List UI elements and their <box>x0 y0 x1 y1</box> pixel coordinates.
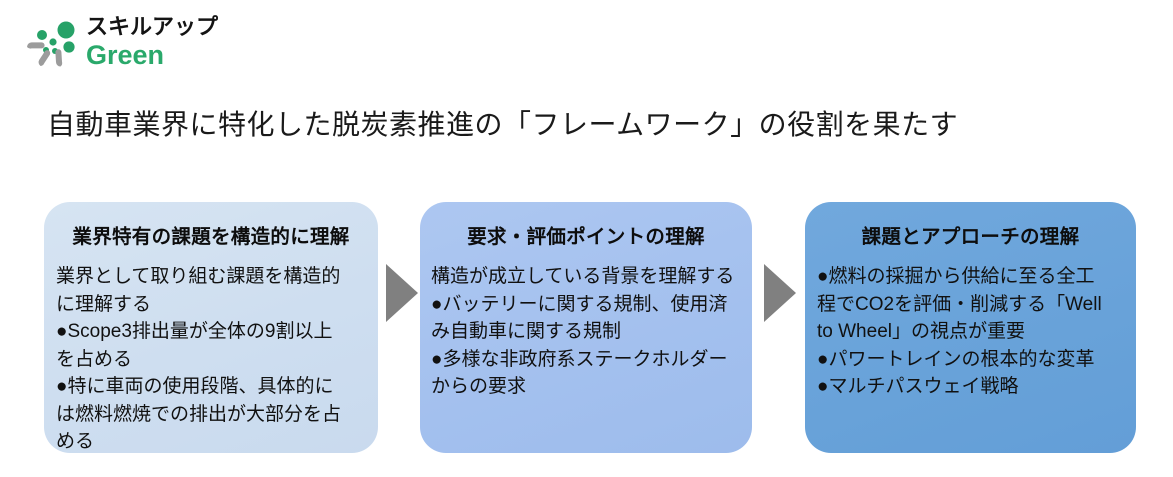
flow-card-2-heading: 要求・評価ポイントの理解 <box>420 202 752 249</box>
flow-card-1-body: 業界として取り組む課題を構造的 に理解する ●Scope3排出量が全体の9割以上… <box>44 249 378 453</box>
triangle-right-arrow-icon <box>762 262 798 324</box>
flow-card-3: 課題とアプローチの理解 ●燃料の採掘から供給に至る全工 程でCO2を評価・削減す… <box>805 202 1136 453</box>
brand-name-en: Green <box>86 40 231 70</box>
brand-wordmark: スキルアップ Green <box>86 14 231 70</box>
page-title: 自動車業界に特化した脱炭素推進の「フレームワーク」の役割を果たす <box>47 103 958 143</box>
flow-card-2: 要求・評価ポイントの理解 構造が成立している背景を理解する ●バッテリーに関する… <box>420 202 752 453</box>
triangle-right-arrow-icon <box>384 262 420 324</box>
brand-name-jp: スキルアップ <box>86 14 231 40</box>
dot-burst-logo-icon <box>22 20 84 70</box>
slide-canvas: スキルアップ Green 自動車業界に特化した脱炭素推進の「フレームワーク」の役… <box>0 0 1173 477</box>
flow-card-1: 業界特有の課題を構造的に理解 業界として取り組む課題を構造的 に理解する ●Sc… <box>44 202 378 453</box>
flow-card-2-body: 構造が成立している背景を理解する ●バッテリーに関する規制、使用済 み自動車に関… <box>420 249 752 401</box>
flow-card-3-heading: 課題とアプローチの理解 <box>805 202 1136 249</box>
flow-card-3-body: ●燃料の採掘から供給に至る全工 程でCO2を評価・削減する「Well to Wh… <box>805 249 1136 401</box>
brand-logo: スキルアップ Green <box>14 12 229 74</box>
flow-card-1-heading: 業界特有の課題を構造的に理解 <box>44 202 378 249</box>
